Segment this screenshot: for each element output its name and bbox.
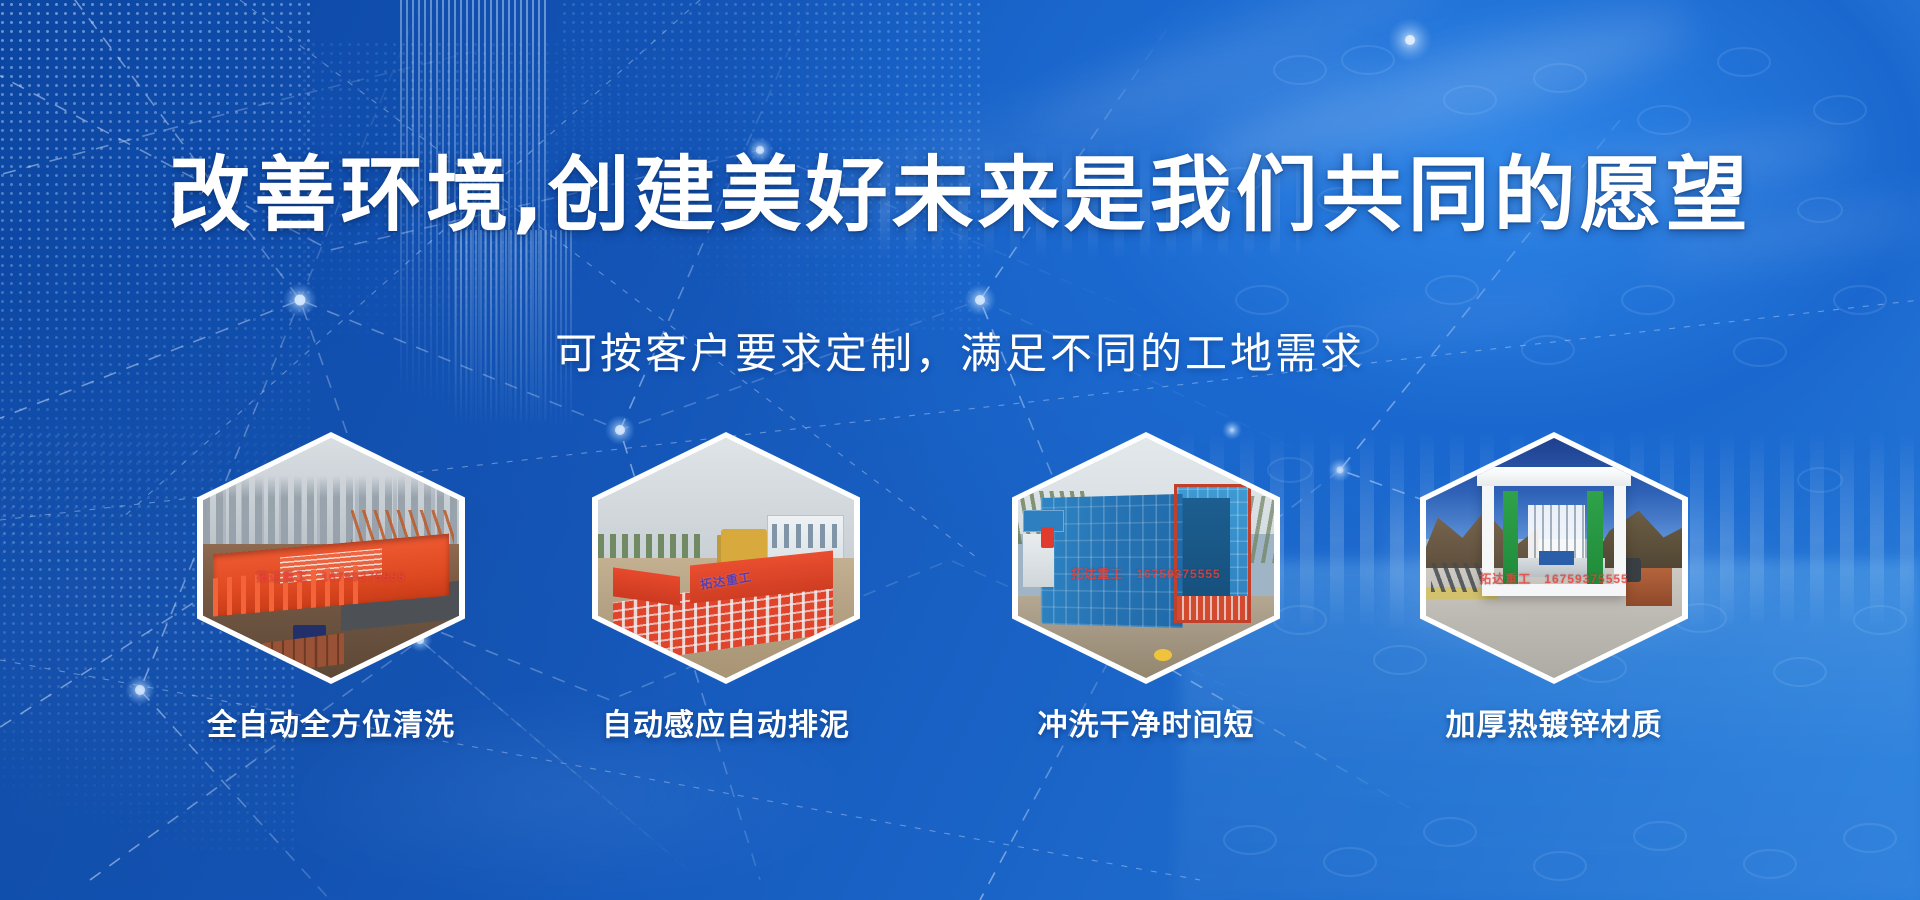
hexagon-photo-clip: 拓达重工 16759375555 [1426,438,1682,678]
feature-photo-galvanized-gantry [1426,438,1682,678]
hexagon-photo-clip: 拓达重工 16759375555 [1018,438,1274,678]
feature-photo-automatic-wash [203,438,459,678]
feature-card[interactable]: 拓达重工 16759375555 加厚热镀锌材质 [1420,432,1688,684]
feature-photo-auto-sensing [598,438,854,678]
feature-caption: 自动感应自动排泥 [562,700,890,744]
feature-card[interactable]: 拓达重工 自动感应自动排泥 [592,432,860,684]
feature-caption: 全自动全方位清洗 [167,700,495,744]
feature-caption: 冲洗干净时间短 [982,700,1310,744]
hexagon-photo-clip: 拓达重工 16759375555 [203,438,459,678]
hexagon-photo-clip: 拓达重工 [598,438,854,678]
feature-caption: 加厚热镀锌材质 [1390,700,1718,744]
hexagon-frame: 拓达重工 16759375555 [197,432,465,684]
feature-photo-enclosed-tunnel [1018,438,1274,678]
hexagon-frame: 拓达重工 16759375555 [1420,432,1688,684]
feature-card[interactable]: 拓达重工 16759375555 全自动全方位清洗 [197,432,465,684]
feature-card-list: 拓达重工 16759375555 全自动全方位清洗 拓达重工 自动感应自动排 [0,0,1920,900]
banner-stage: 改善环境,创建美好未来是我们共同的愿望 可按客户要求定制，满足不同的工地需求 拓… [0,0,1920,900]
hexagon-frame: 拓达重工 [592,432,860,684]
hexagon-frame: 拓达重工 16759375555 [1012,432,1280,684]
feature-card[interactable]: 拓达重工 16759375555 冲洗干净时间短 [1012,432,1280,684]
